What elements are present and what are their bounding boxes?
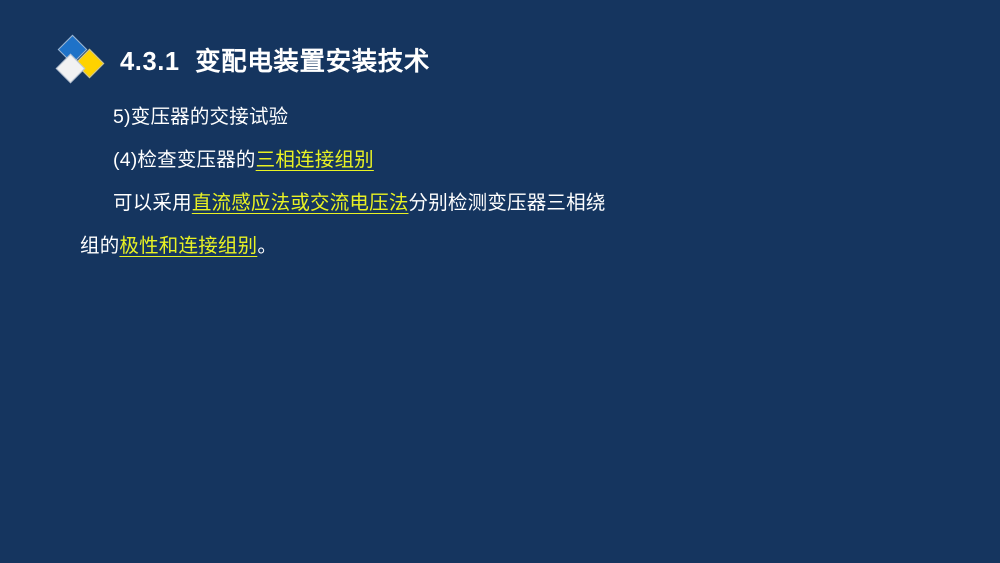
plain-text-2-0: 可以采用 — [113, 192, 192, 214]
body-line-3: 组的极性和连接组别。 — [80, 237, 277, 257]
three-diamonds-logo — [57, 38, 111, 90]
page-title: 4.3.1 变配电装置安装技术 — [120, 47, 430, 78]
plain-text-3-2: 。 — [257, 235, 277, 257]
highlight-text-1-1: 三相连接组别 — [256, 149, 374, 171]
plain-text-3-0: 组的 — [80, 235, 119, 257]
body-line-1: (4)检查变压器的三相连接组别 — [113, 151, 374, 171]
body-line-0: 5)变压器的交接试验 — [113, 108, 288, 128]
plain-text-2-2: 分别检测变压器三相绕 — [409, 192, 606, 214]
slide-canvas: 4.3.1 变配电装置安装技术 5)变压器的交接试验(4)检查变压器的三相连接组… — [0, 0, 1000, 563]
plain-text-0-0: 5)变压器的交接试验 — [113, 106, 288, 128]
highlight-text-2-1: 直流感应法或交流电压法 — [192, 192, 409, 214]
slide-header: 4.3.1 变配电装置安装技术 — [0, 0, 1000, 100]
body-line-2: 可以采用直流感应法或交流电压法分别检测变压器三相绕 — [113, 194, 606, 214]
highlight-text-3-1: 极性和连接组别 — [119, 235, 257, 257]
plain-text-1-0: (4)检查变压器的 — [113, 149, 256, 171]
